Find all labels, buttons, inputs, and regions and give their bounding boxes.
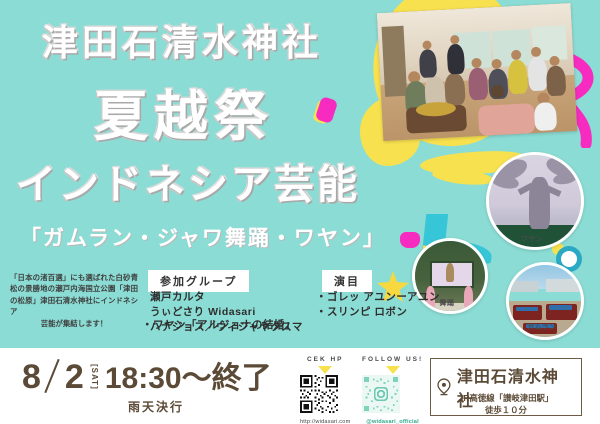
qr-code-website[interactable] [300, 375, 338, 413]
list-item: ・ゴレッ アユンーアユン [316, 290, 440, 305]
arrow-down-icon [318, 366, 332, 374]
qr-arc-label-website: CEK HP [300, 356, 350, 366]
instagram-handle[interactable]: @widasari_official [362, 419, 423, 424]
program-list: ・ゴレッ アユンーアユン ・スリンピ ロボン ・ワヤン「アルジョナの結婚」 [316, 290, 440, 320]
event-time: 18:30〜終了 [105, 364, 272, 394]
program-heading: 演目 [322, 270, 372, 292]
subtitle: 「ガムラン・ジャワ舞踊・ワヤン」 [20, 222, 386, 252]
event-date: 8 2 [SAT] 18:30〜終了 [22, 358, 272, 394]
magenta-chip-decoration [315, 96, 339, 124]
groups-heading: 参加グループ [148, 270, 249, 292]
arrow-down-icon-2 [386, 366, 400, 374]
list-item: ・スリンピ ロボン [316, 305, 440, 320]
shrine-title: 津田石清水神社 [42, 14, 322, 66]
event-poster: ワヤン 舞踊 ガムラン 津田石清水神社 夏越祭 インドネシア芸能 「ガムラン・ジ… [0, 0, 600, 424]
qr-arc-label-instagram: FOLLOW US! [362, 356, 423, 366]
photo-label-wayang: ワヤン [486, 234, 578, 244]
event-month: 8 [22, 360, 41, 394]
qr-code-instagram[interactable] [362, 375, 400, 413]
rain-note: 雨天決行 [128, 398, 184, 415]
photo-label-gamelan: ガムラン [506, 322, 578, 332]
venue-access: JR高徳線「讃岐津田駅」 徒歩１０分 [430, 392, 582, 416]
festival-title: 夏越祭 [94, 72, 274, 151]
group-photo [377, 3, 577, 141]
description-line-1: 「日本の渚百選」にも選ばれ [10, 273, 108, 282]
venue-access-line-2: 徒歩１０分 [430, 404, 582, 416]
list-item-wayang: ・ワヤン「アルジョナの結婚」 [142, 318, 296, 333]
description-paragraph: 「日本の渚百選」にも選ばれた白砂青松の景勝地の瀬戸内海国立公園「津田の松原」津田… [10, 272, 138, 329]
venue-access-line-1: JR高徳線「讃岐津田駅」 [430, 392, 582, 404]
event-weekday: [SAT] [90, 364, 99, 390]
qr-block-website[interactable]: CEK HP [300, 356, 350, 424]
website-url[interactable]: http://widasari.com [300, 419, 350, 424]
list-item: 瀬戸カルタ [150, 290, 303, 305]
qr-block-instagram[interactable]: FOLLOW US! @widasari_official [362, 356, 423, 424]
description-line-5: 芸能が集結します！ [10, 318, 138, 329]
theme-title: インドネシア芸能 [16, 152, 360, 210]
yellow-brush-stroke-2 [431, 167, 494, 187]
event-day: 2 [65, 360, 84, 394]
date-slash [44, 359, 59, 393]
